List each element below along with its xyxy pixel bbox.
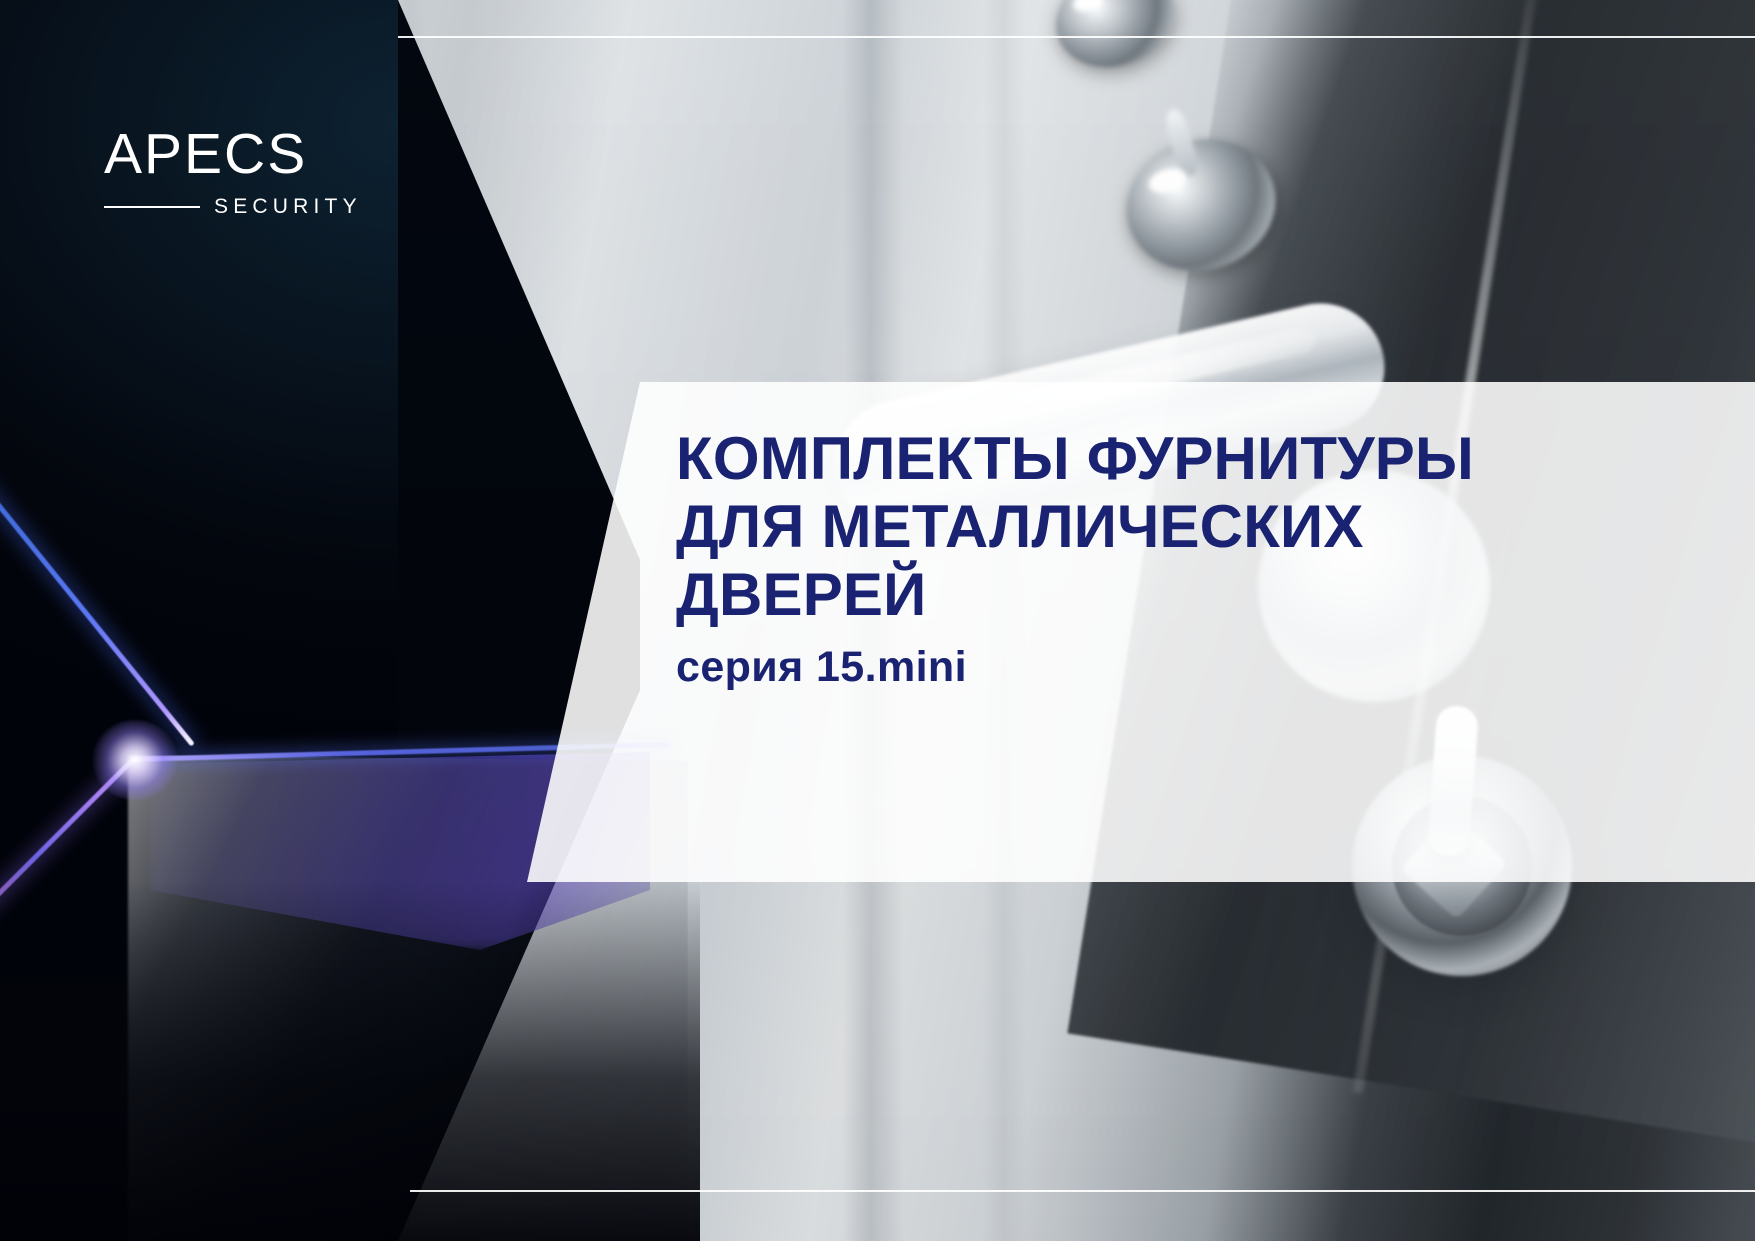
title-line-2: ДЛЯ МЕТАЛЛИЧЕСКИХ	[676, 493, 1746, 561]
top-rule-divider	[398, 36, 1755, 38]
title-line-3: ДВЕРЕЙ	[676, 561, 1746, 629]
logo-brand-text: APECS	[104, 126, 340, 183]
page-title: КОМПЛЕКТЫ ФУРНИТУРЫ ДЛЯ МЕТАЛЛИЧЕСКИХ ДВ…	[676, 425, 1746, 692]
cube-vertex-glow-icon	[92, 720, 178, 800]
slide-canvas: APECS SECURITY КОМПЛЕКТЫ ФУРНИТУРЫ ДЛЯ М…	[0, 0, 1755, 1241]
apecs-logo[interactable]: APECS SECURITY	[104, 126, 340, 217]
title-line-1: КОМПЛЕКТЫ ФУРНИТУРЫ	[676, 425, 1746, 493]
cube-shadow-face	[0, 880, 700, 1241]
logo-rule-icon	[104, 206, 200, 208]
logo-tagline-text: SECURITY	[214, 196, 362, 217]
bottom-rule-divider	[410, 1190, 1755, 1192]
series-subtitle: серия 15.mini	[676, 643, 1746, 692]
logo-tagline-row: SECURITY	[104, 196, 340, 217]
